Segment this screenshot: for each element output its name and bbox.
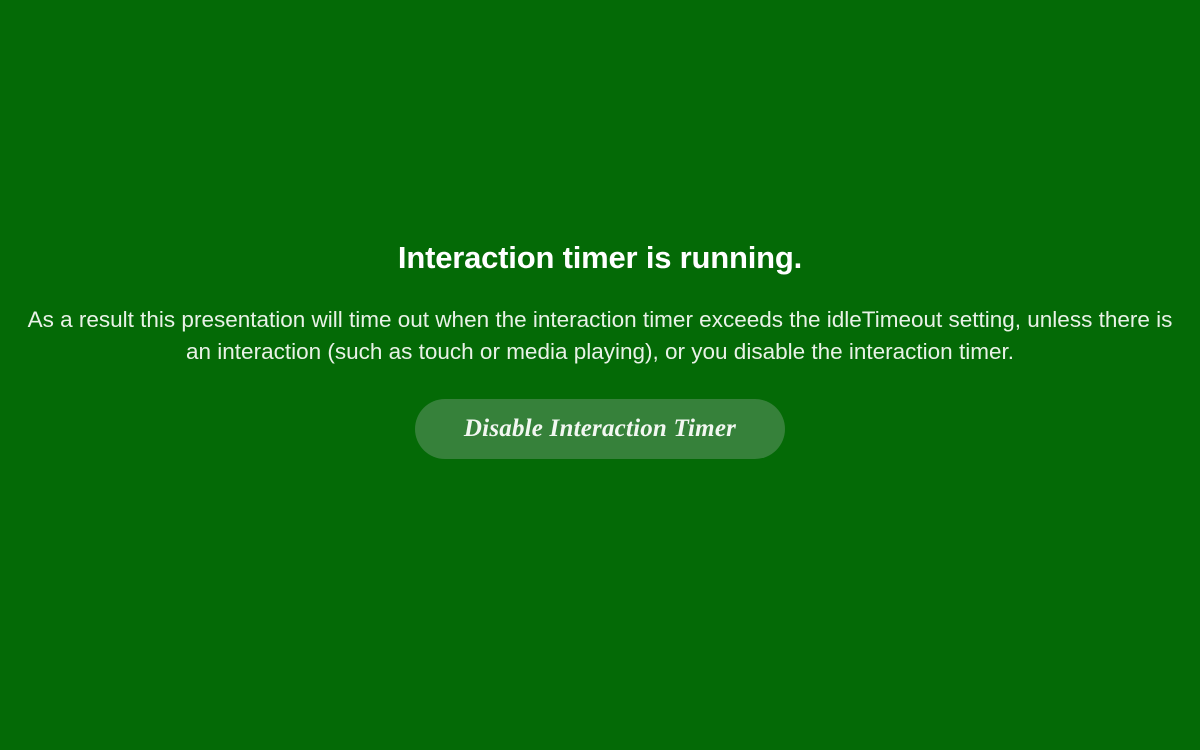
interaction-timer-notice: Interaction timer is running. As a resul… bbox=[0, 0, 1200, 750]
presentation-screen: Interaction timer is running. As a resul… bbox=[0, 0, 1200, 750]
notice-action-row: Disable Interaction Timer bbox=[14, 399, 1186, 459]
disable-interaction-timer-button[interactable]: Disable Interaction Timer bbox=[415, 399, 785, 459]
notice-body-text: As a result this presentation will time … bbox=[25, 304, 1175, 369]
notice-title: Interaction timer is running. bbox=[398, 240, 802, 276]
